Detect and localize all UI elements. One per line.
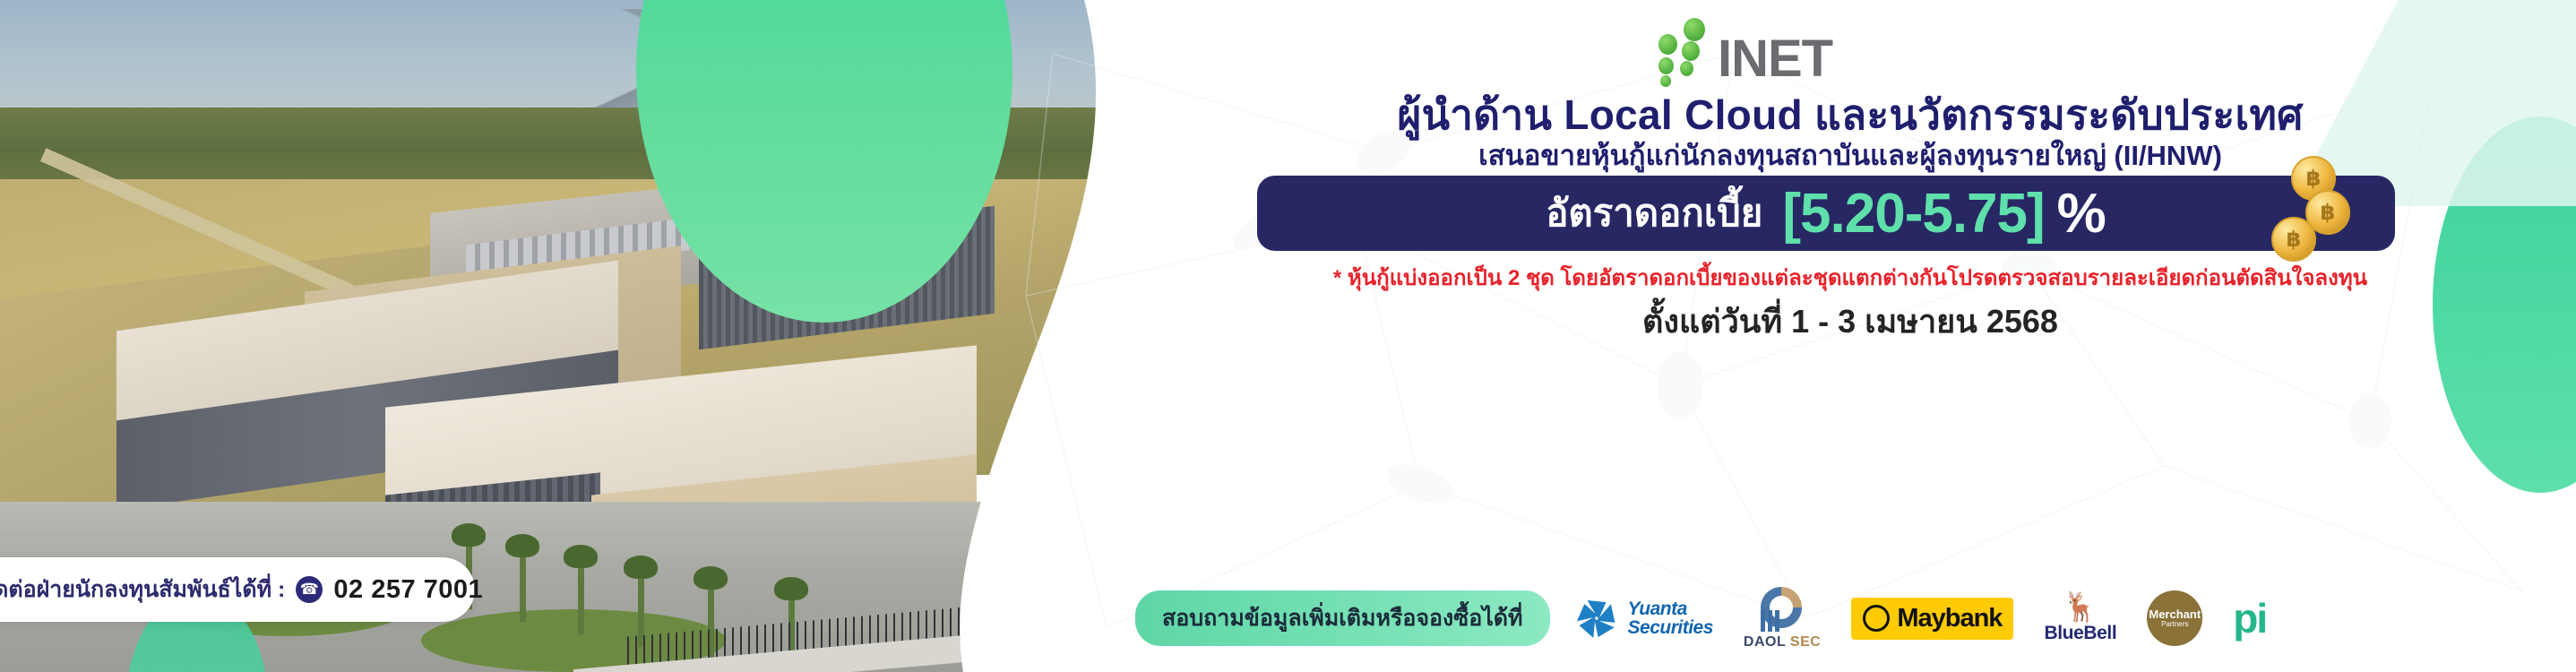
inet-wordmark: INET — [1718, 35, 1832, 82]
daol-name-line1: DAOL — [1744, 634, 1786, 650]
partner-logo-merchant[interactable]: Merchant Partners — [2147, 590, 2202, 646]
bond-series-disclaimer: * หุ้นกู้แบ่งออกเป็น 2 ชุด โดยอัตราดอกเบ… — [1124, 260, 2576, 295]
coin-icon: ฿ — [2271, 217, 2316, 262]
content-column: INET ผู้นำด้าน Local Cloud และนวัตกรรมระ… — [1124, 0, 2576, 672]
interest-rate-label: อัตราดอกเบี้ย — [1546, 184, 1762, 243]
promotional-banner: ติดต่อฝ่ายนักลงทุนสัมพันธ์ได้ที่ : ☎ 02 … — [0, 0, 2576, 672]
enquiry-cta-button[interactable]: สอบถามข้อมูลเพิ่มเติมหรือจองซื้อได้ที่ — [1135, 590, 1550, 646]
maybank-tiger-icon — [1863, 605, 1890, 632]
daol-name-line2: SEC — [1790, 634, 1821, 650]
partner-logo-yuanta[interactable]: Yuanta Securities — [1573, 595, 1713, 642]
merchant-name-line2: Partners — [2161, 621, 2188, 628]
interest-rate-percent-sign: % — [2057, 182, 2106, 246]
yuanta-name-line2: Securities — [1628, 618, 1713, 637]
partner-logo-pi[interactable]: pi — [2233, 602, 2266, 635]
palm-tree — [520, 548, 526, 622]
bluebell-wordmark: BlueBell — [2044, 623, 2116, 644]
yuanta-name-line1: Yuanta — [1628, 599, 1713, 618]
yuanta-star-icon — [1573, 595, 1620, 642]
bluebell-deer-icon: 🦌 — [2063, 592, 2098, 621]
merchant-name-line1: Merchant — [2149, 608, 2201, 621]
maybank-wordmark: Maybank — [1897, 604, 2002, 633]
interest-rate-banner: อัตราดอกเบี้ย [5.20-5.75] % ฿ ฿ ฿ — [1257, 176, 2395, 251]
gold-coins-icon: ฿ ฿ ฿ — [2252, 156, 2359, 271]
partners-footer: สอบถามข้อมูลเพิ่มเติมหรือจองซื้อได้ที่ Y… — [1124, 581, 2576, 656]
contact-phone-number[interactable]: 02 257 7001 — [333, 575, 483, 605]
inet-dots-icon — [1657, 14, 1714, 82]
contact-label: ติดต่อฝ่ายนักลงทุนสัมพันธ์ได้ที่ : — [0, 572, 285, 607]
daol-pie-icon — [1757, 587, 1807, 632]
offering-period: ตั้งแต่วันที่ 1 - 3 เมษายน 2568 — [1124, 296, 2576, 347]
inet-logo[interactable]: INET — [1657, 13, 1832, 82]
partner-logo-bluebell[interactable]: 🦌 BlueBell — [2044, 592, 2116, 644]
partner-logo-maybank[interactable]: Maybank — [1851, 598, 2013, 640]
investor-relations-contact-card[interactable]: ติดต่อฝ่ายนักลงทุนสัมพันธ์ได้ที่ : ☎ 02 … — [0, 557, 475, 622]
interest-rate-value: [5.20-5.75] — [1782, 182, 2044, 246]
partner-logo-daolsec[interactable]: DAOL SEC — [1744, 587, 1821, 650]
partner-logo-list: Yuanta Securities DAOL SEC — [1573, 587, 2267, 650]
phone-icon: ☎ — [296, 576, 323, 603]
palm-tree — [578, 559, 584, 634]
